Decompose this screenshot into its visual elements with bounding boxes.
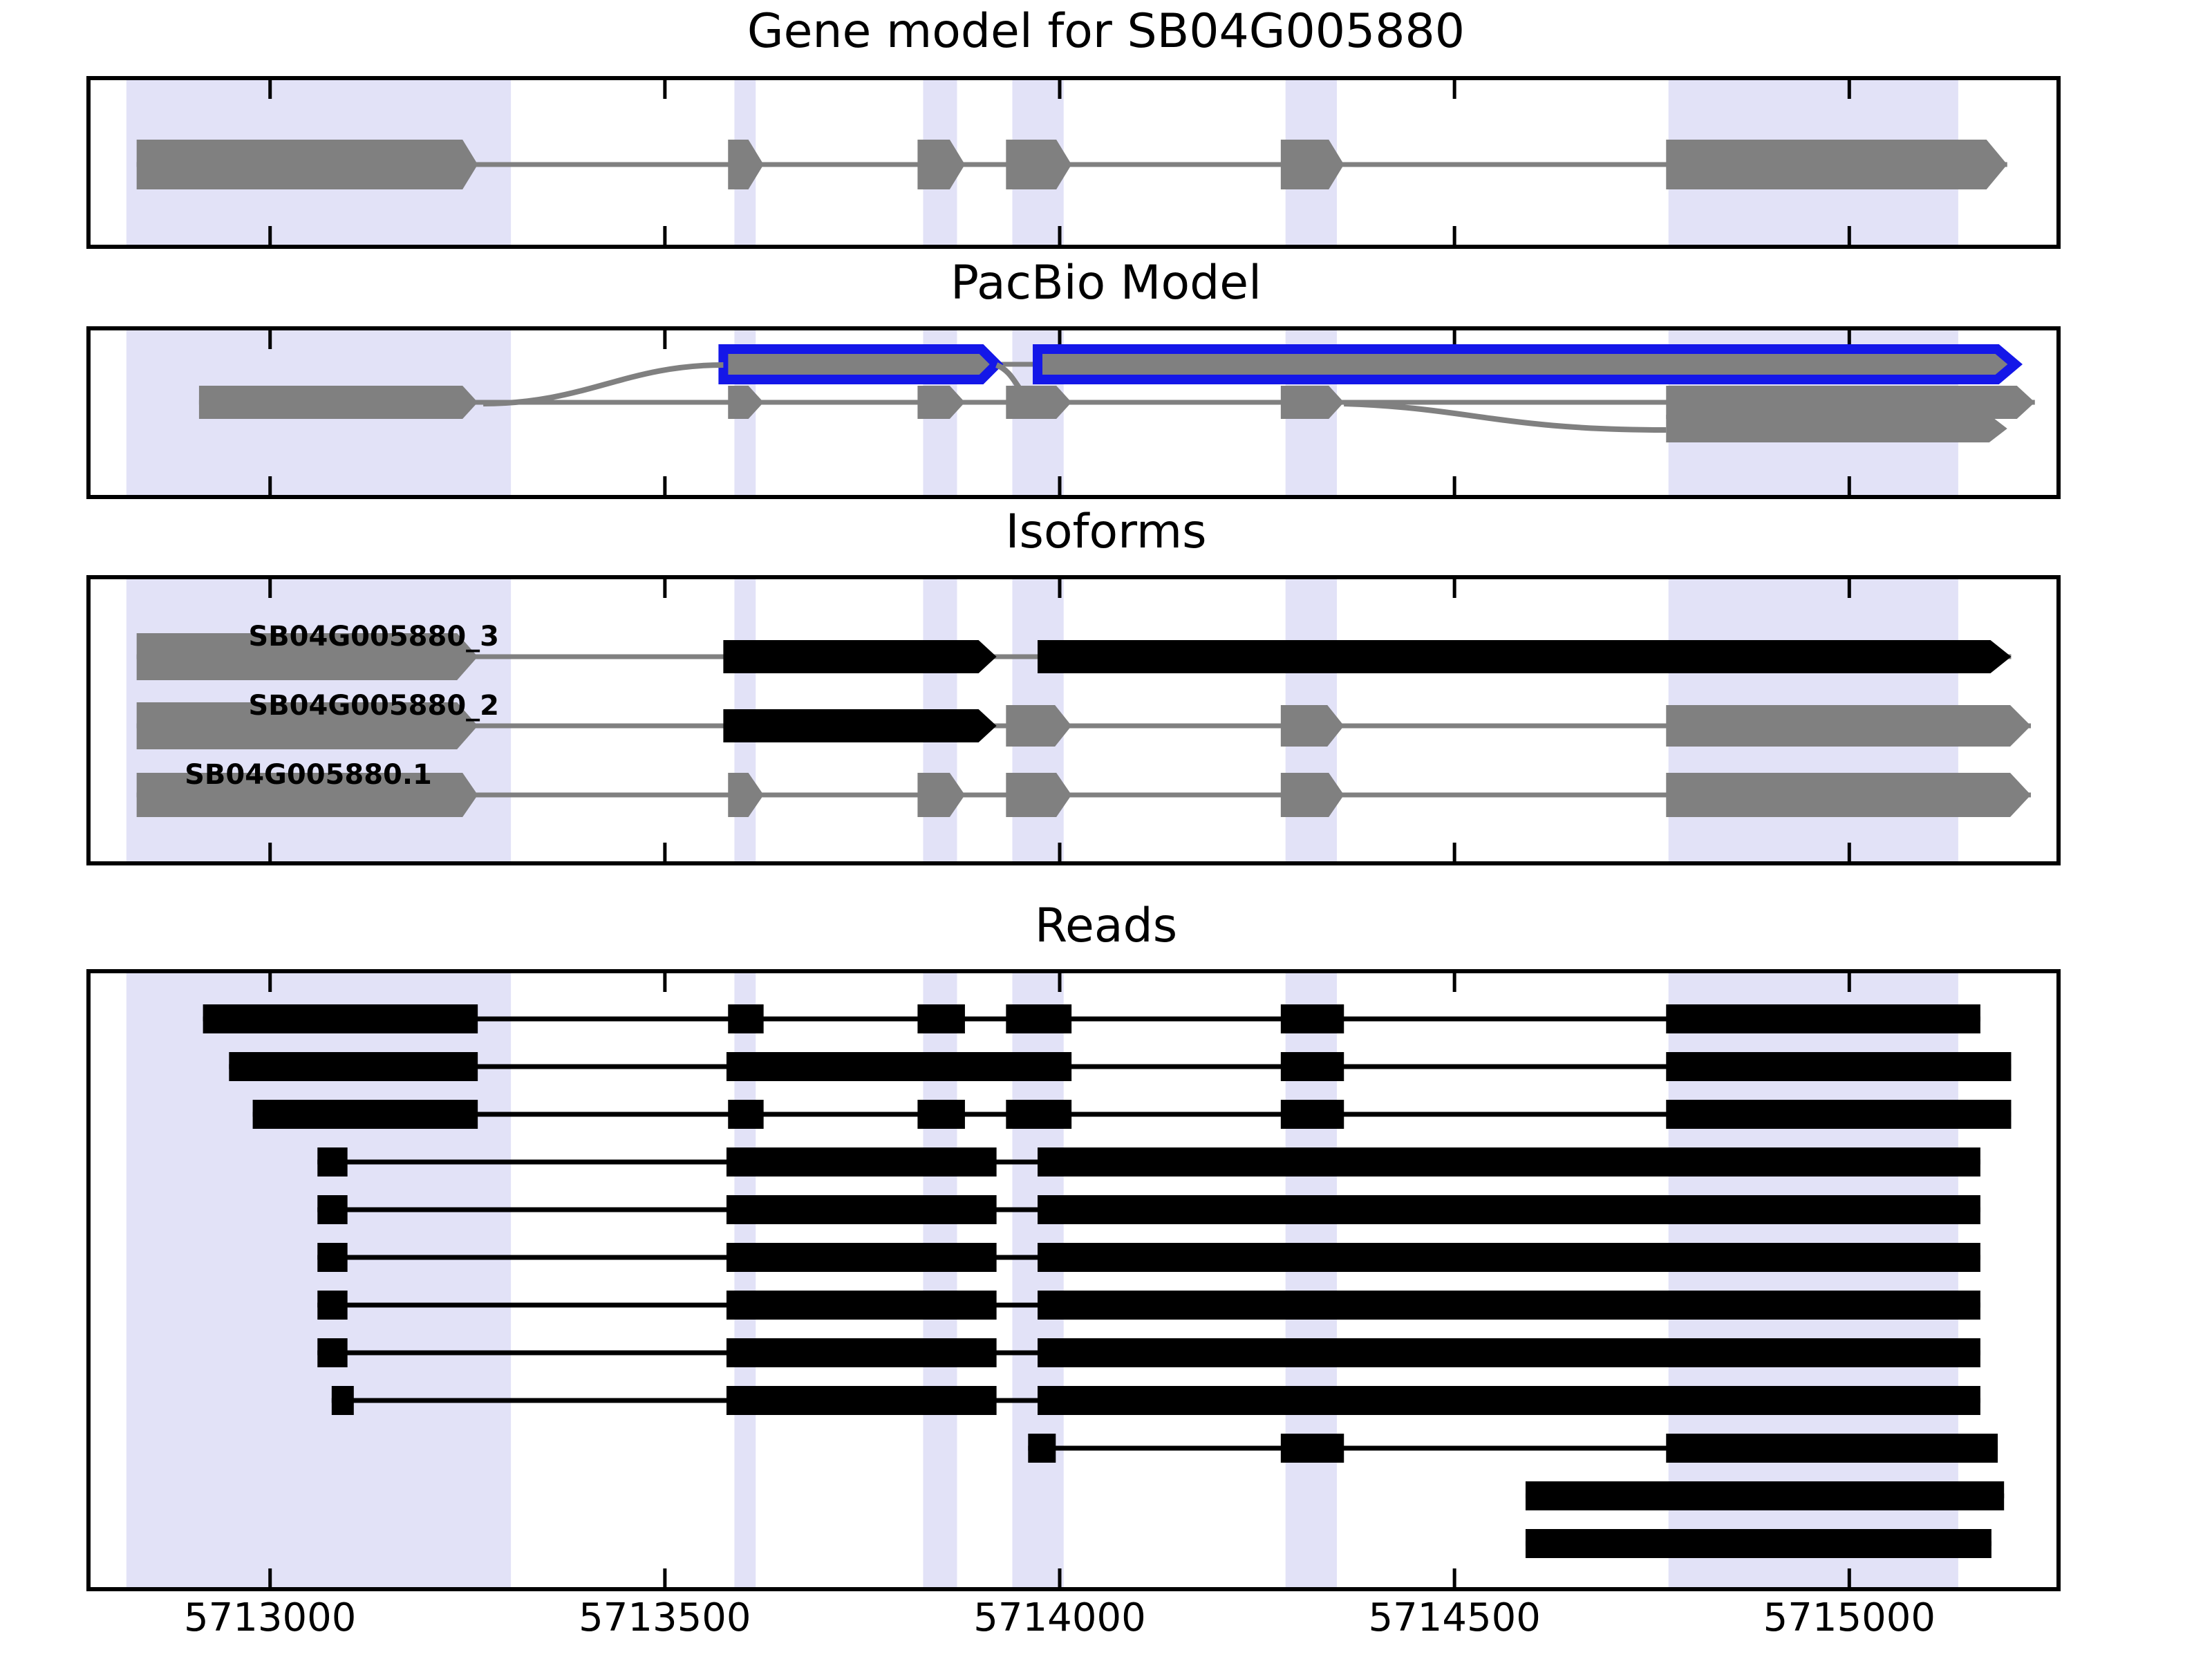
read-exon-block <box>1038 1386 1980 1415</box>
read-exon-block <box>317 1338 347 1367</box>
read-exon-block <box>917 1100 965 1129</box>
read-exon-block <box>1006 1100 1071 1129</box>
exon-block <box>1666 386 2034 419</box>
gene-model-title: Gene model for SB04G005880 <box>0 4 2212 59</box>
read-exon-block <box>727 1386 997 1415</box>
reads-title: Reads <box>0 899 2212 953</box>
read-exon-block <box>1526 1529 1991 1558</box>
x-axis-tick-label: 5713500 <box>541 1595 789 1640</box>
read-exon-block <box>1028 1434 1056 1463</box>
read-exon-block <box>332 1386 354 1415</box>
exon-block <box>1038 349 2015 379</box>
read-exon-block <box>1038 1243 1980 1272</box>
read-exon-block <box>1281 1100 1344 1129</box>
read-exon-block <box>317 1291 347 1320</box>
exon-block <box>917 773 965 817</box>
read-exon-block <box>728 1100 763 1129</box>
splice-curve <box>483 365 723 404</box>
isoform-label-0: SB04G005880_3 <box>0 621 499 653</box>
splice-curve <box>1344 404 1666 430</box>
read-exon-block <box>727 1243 997 1272</box>
read-exon-block <box>1038 1147 1980 1177</box>
pacbio-model-plot <box>0 326 2212 499</box>
exon-block <box>728 773 763 817</box>
read-exon-block <box>203 1004 478 1033</box>
isoform-label-1: SB04G005880_2 <box>0 690 499 722</box>
read-exon-block <box>1006 1004 1071 1033</box>
read-exon-block <box>727 1147 997 1177</box>
x-axis-tick-label: 5714000 <box>935 1595 1184 1640</box>
reads-plot <box>0 969 2212 1591</box>
exon-block <box>137 140 478 189</box>
x-axis-tick-label: 5713000 <box>146 1595 395 1640</box>
read-exon-block <box>1666 1052 2011 1081</box>
read-exon-block <box>253 1100 478 1129</box>
read-exon-block <box>1281 1434 1344 1463</box>
exon-block <box>199 386 478 419</box>
read-exon-block <box>317 1147 347 1177</box>
x-axis-tick-label: 5715000 <box>1725 1595 1974 1640</box>
exon-block <box>723 709 996 742</box>
exon-block <box>1666 415 2007 442</box>
read-exon-block <box>317 1243 347 1272</box>
figure-root: Gene model for SB04G005880 PacBio Model … <box>0 0 2212 1659</box>
gene-model-plot <box>0 76 2212 249</box>
read-exon-block <box>727 1195 997 1224</box>
read-exon-block <box>1038 1338 1980 1367</box>
exon-block <box>1666 773 2031 817</box>
read-exon-block <box>727 1052 1071 1081</box>
read-exon-block <box>229 1052 478 1081</box>
read-exon-block <box>917 1004 965 1033</box>
read-exon-block <box>317 1195 347 1224</box>
exon-block <box>1666 705 2031 747</box>
exon-block <box>723 640 996 673</box>
read-exon-block <box>1038 1195 1980 1224</box>
pacbio-model-title: PacBio Model <box>0 256 2212 310</box>
exon-block <box>728 386 763 419</box>
isoforms-title: Isoforms <box>0 505 2212 559</box>
exon-block <box>1038 640 2011 673</box>
x-axis-tick-label: 5714500 <box>1330 1595 1579 1640</box>
read-exon-block <box>728 1004 763 1033</box>
exon-block <box>1666 140 2007 189</box>
isoform-label-2: SB04G005880.1 <box>0 759 432 791</box>
read-exon-block <box>727 1291 997 1320</box>
exon-block <box>917 386 965 419</box>
read-exon-block <box>727 1338 997 1367</box>
read-exon-block <box>1038 1291 1980 1320</box>
read-exon-block <box>1666 1004 1980 1033</box>
read-exon-block <box>1666 1434 1998 1463</box>
read-exon-block <box>1281 1052 1344 1081</box>
read-exon-block <box>1526 1481 2004 1510</box>
read-exon-block <box>1666 1100 2011 1129</box>
read-exon-block <box>1281 1004 1344 1033</box>
exon-block <box>917 140 965 189</box>
exon-block <box>723 349 996 379</box>
exon-block <box>728 140 763 189</box>
